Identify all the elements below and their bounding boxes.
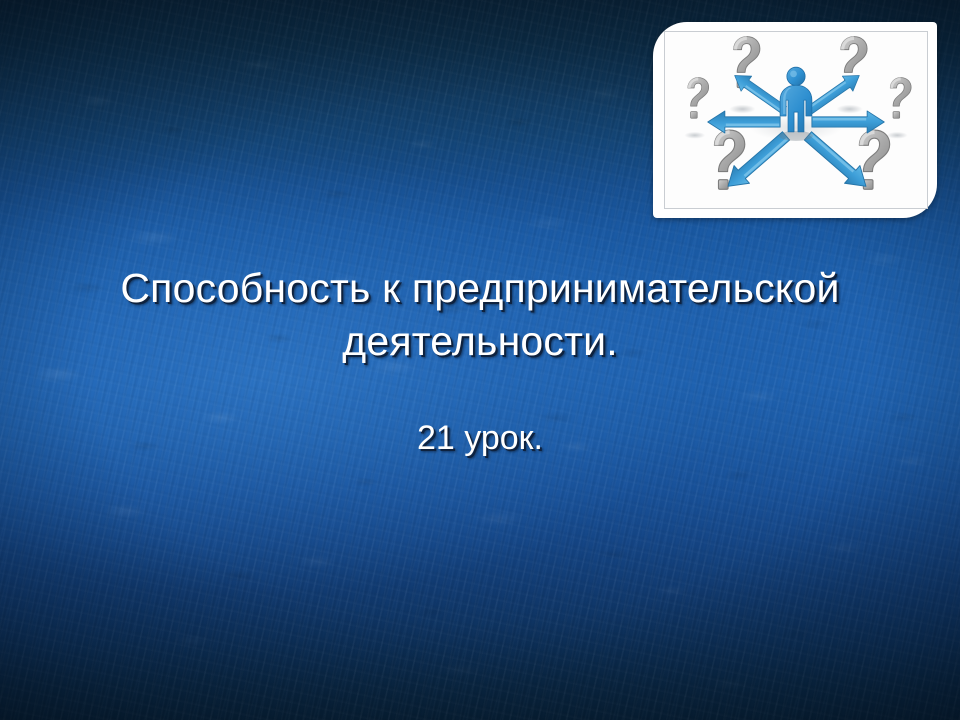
- illustration-frame: [653, 22, 937, 218]
- person-with-questions-icon: [665, 32, 927, 208]
- question-mark-top-right: [836, 37, 867, 114]
- title-line-2: деятельности.: [60, 315, 900, 368]
- illustration-image: [664, 31, 928, 209]
- slide-subtitle: 21 урок.: [60, 416, 900, 460]
- title-line-1: Способность к предпринимательской: [60, 262, 900, 315]
- question-mark-top-left: [729, 37, 760, 114]
- slide-title: Способность к предпринимательской деятел…: [60, 262, 900, 368]
- question-mark-right: [887, 78, 911, 139]
- presentation-slide: Способность к предпринимательской деятел…: [0, 0, 960, 720]
- question-mark-left: [684, 78, 708, 139]
- slide-subtitle-block: 21 урок.: [60, 416, 900, 460]
